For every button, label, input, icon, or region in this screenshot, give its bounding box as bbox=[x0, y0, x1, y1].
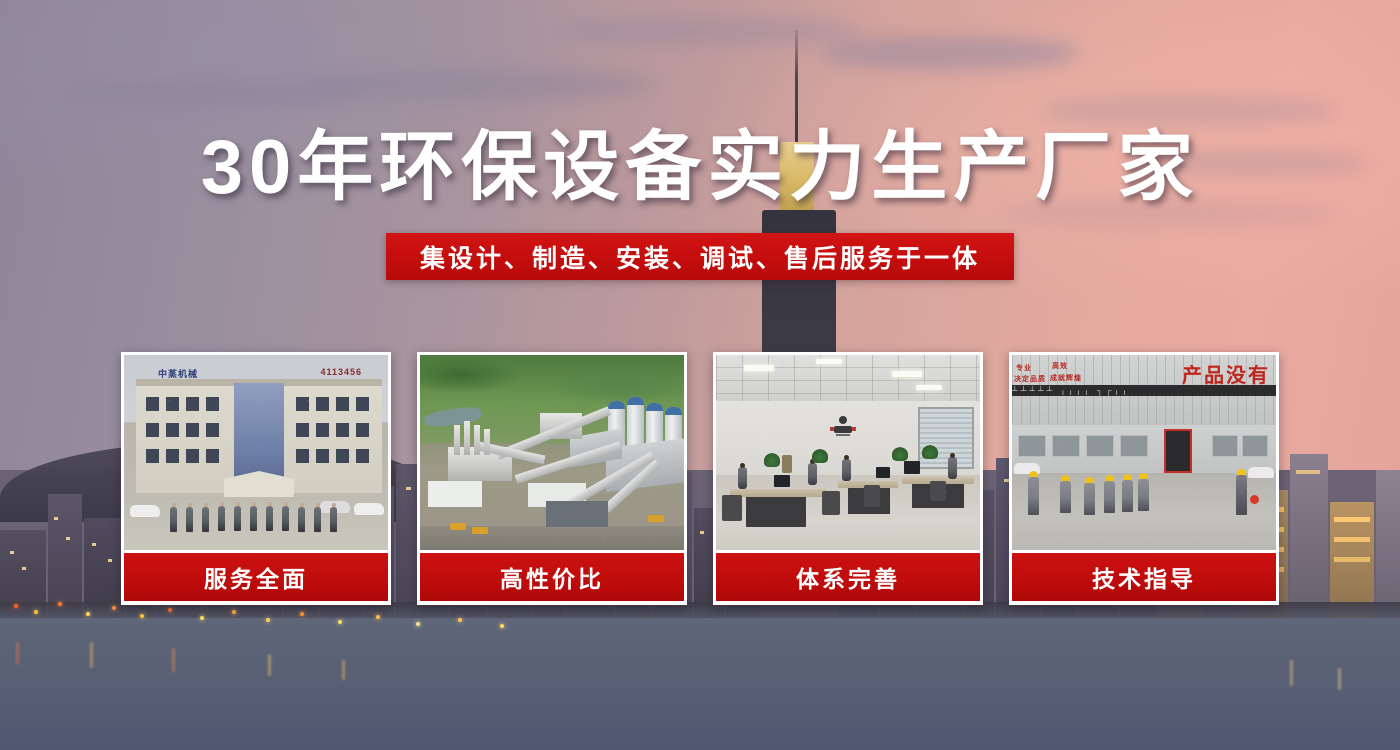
banner-stage: 30年环保设备实力生产厂家 集设计、制造、安装、调试、售后服务于一体 中蒸机械 … bbox=[0, 0, 1400, 750]
feature-card-service[interactable]: 中蒸机械 4113456 bbox=[121, 352, 391, 605]
card-caption-text: 高性价比 bbox=[500, 560, 604, 594]
card-caption-text: 服务全面 bbox=[204, 560, 308, 594]
factory-slogan-2: 高效 bbox=[1052, 361, 1068, 371]
card-caption-bar: 高性价比 bbox=[420, 553, 684, 601]
subtitle-banner: 集设计、制造、安装、调试、售后服务于一体 bbox=[386, 233, 1014, 280]
feature-card-guidance[interactable]: 产品没有 专业 高效 决定品质 成就辉煌 ┴┴┴┴┴ ╷╷╷╷ ┐┌╷╷ bbox=[1009, 352, 1279, 605]
factory-wall-headline: 产品没有 bbox=[1182, 359, 1270, 388]
card-photo-industrial-plant bbox=[420, 355, 684, 550]
subtitle-text: 集设计、制造、安装、调试、售后服务于一体 bbox=[420, 239, 980, 275]
page-title: 30年环保设备实力生产厂家 bbox=[0, 128, 1400, 208]
card-caption-bar: 体系完善 bbox=[716, 553, 980, 601]
feature-card-system[interactable]: 体系完善 bbox=[713, 352, 983, 605]
card-caption-text: 技术指导 bbox=[1092, 560, 1196, 594]
factory-slogan-4: 成就辉煌 bbox=[1050, 373, 1082, 383]
card-photo-office-building: 中蒸机械 4113456 bbox=[124, 355, 388, 550]
factory-slogan-1: 专业 bbox=[1016, 363, 1032, 373]
photo-company-sign: 中蒸机械 bbox=[158, 367, 198, 380]
photo-phone-number: 4113456 bbox=[320, 367, 362, 377]
card-caption-bar: 服务全面 bbox=[124, 553, 388, 601]
wall-art-icon bbox=[828, 413, 858, 439]
card-photo-office-interior bbox=[716, 355, 980, 550]
feature-card-value[interactable]: 高性价比 bbox=[417, 352, 687, 605]
factory-slogan-3: 决定品质 bbox=[1014, 374, 1046, 384]
card-caption-bar: 技术指导 bbox=[1012, 553, 1276, 601]
card-photo-factory-workers: 产品没有 专业 高效 决定品质 成就辉煌 ┴┴┴┴┴ ╷╷╷╷ ┐┌╷╷ bbox=[1012, 355, 1276, 550]
feature-card-list: 中蒸机械 4113456 bbox=[121, 352, 1279, 605]
card-caption-text: 体系完善 bbox=[796, 560, 900, 594]
river bbox=[0, 618, 1400, 750]
